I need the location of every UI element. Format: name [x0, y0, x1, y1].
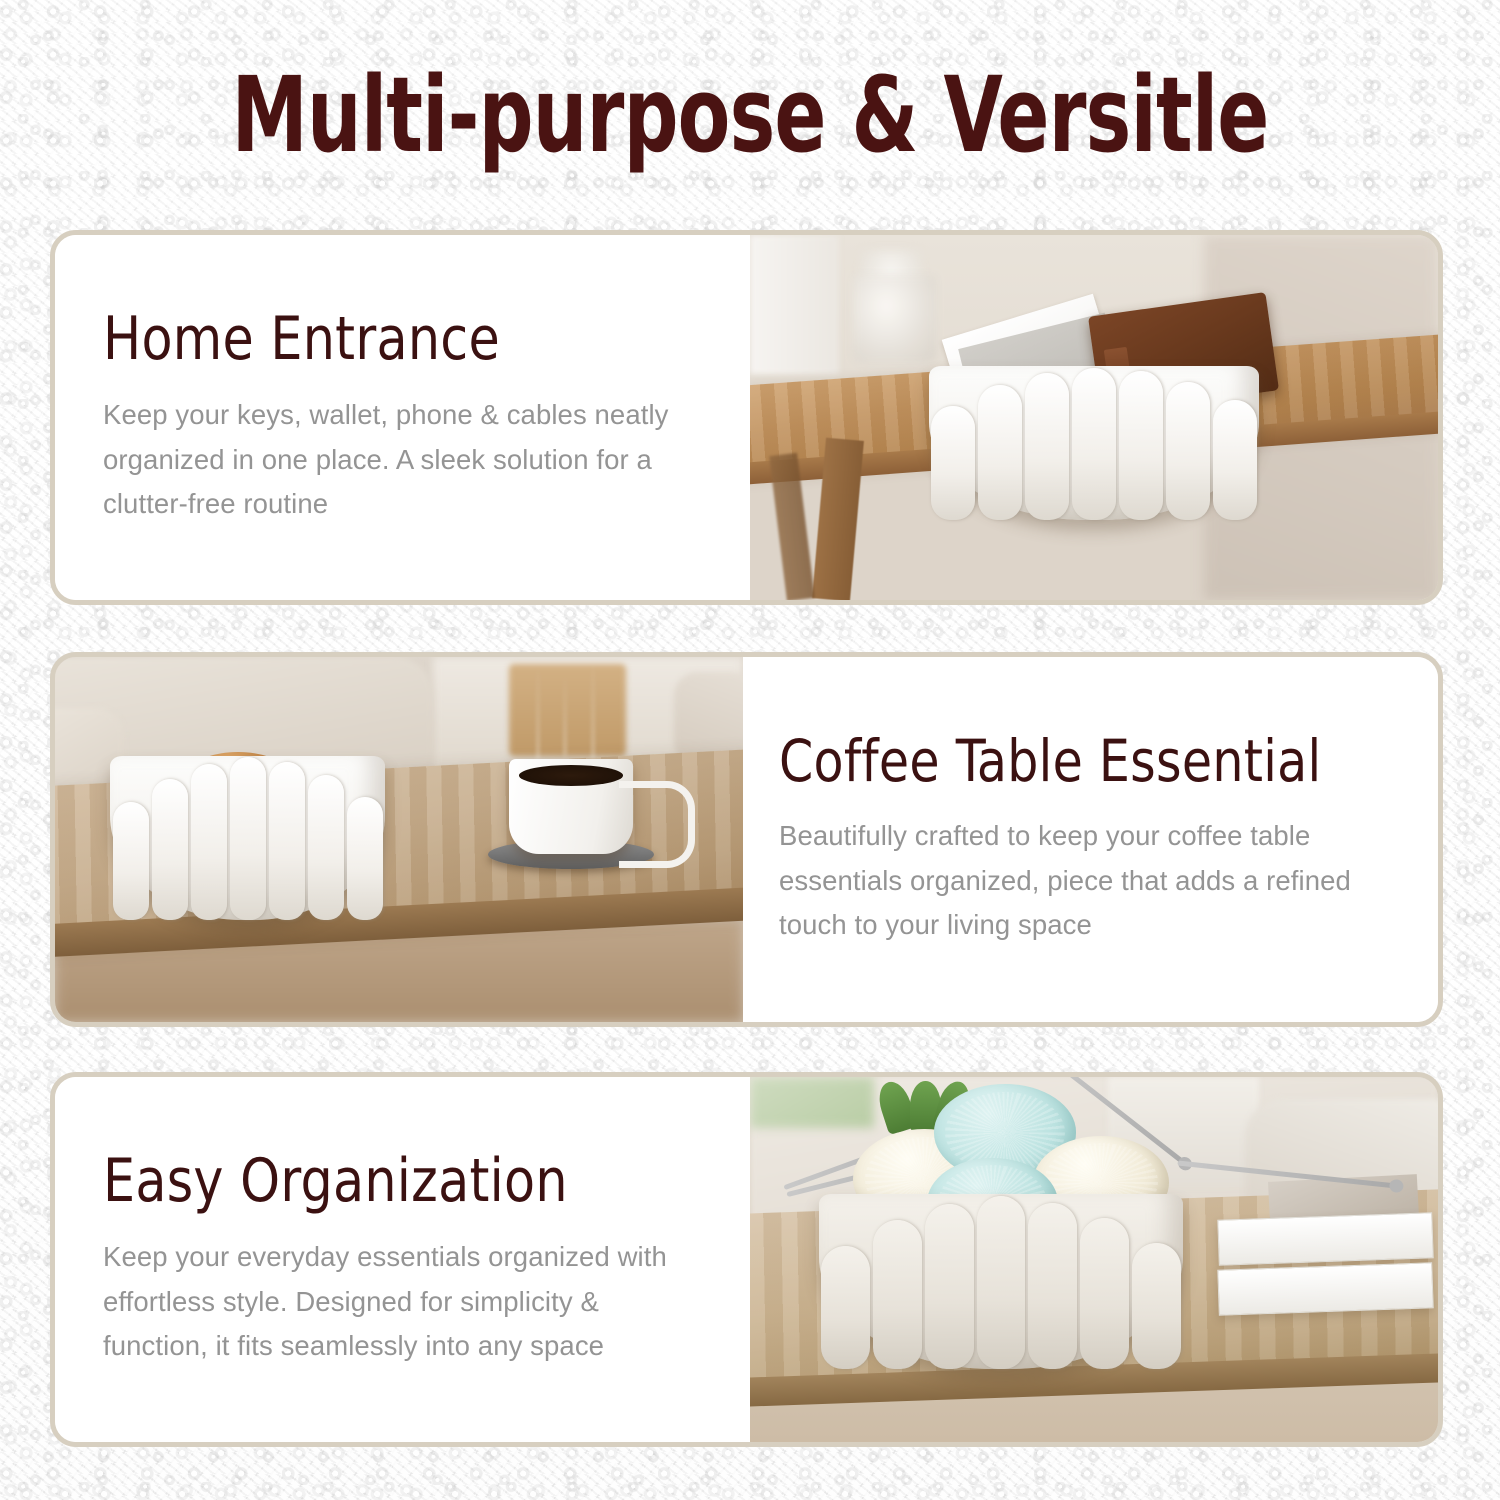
bowl-petals: [929, 366, 1259, 519]
photo-scene-entrance: [750, 235, 1438, 600]
photo-scene-coffee-table: [55, 657, 743, 1022]
petal-bowl: [110, 756, 385, 920]
steam-wisp: [537, 664, 539, 759]
book-top: [1217, 1212, 1434, 1265]
card-heading: Easy Organization: [103, 1150, 711, 1213]
petal-bowl: [819, 1194, 1184, 1369]
photo-scene-yarn: [750, 1077, 1438, 1442]
card-photo-coffee-table: [55, 657, 743, 1022]
window-light: [750, 235, 839, 374]
infographic-page: Multi-purpose & Versitle Home Entrance K…: [0, 0, 1500, 1500]
card-body-text: Beautifully crafted to keep your coffee …: [779, 814, 1399, 948]
petal-bowl: [929, 366, 1259, 519]
page-title: Multi-purpose & Versitle: [135, 62, 1365, 168]
card-heading: Coffee Table Essential: [779, 731, 1398, 792]
card-text-pane: Home Entrance Keep your keys, wallet, ph…: [55, 235, 750, 600]
feature-card-coffee-table-essential: Coffee Table Essential Beautifully craft…: [50, 652, 1443, 1027]
bowl-petals: [819, 1194, 1184, 1369]
glass-jar: [853, 275, 936, 363]
stacked-books: [1218, 1216, 1431, 1326]
card-text-pane: Easy Organization Keep your everyday ess…: [55, 1077, 750, 1442]
steam-wisp: [564, 675, 566, 755]
mug-handle: [619, 781, 695, 868]
card-photo-home-entrance: [750, 235, 1438, 600]
coffee-mug: [509, 759, 633, 854]
card-heading: Home Entrance: [103, 308, 711, 371]
feature-card-home-entrance: Home Entrance Keep your keys, wallet, ph…: [50, 230, 1443, 605]
card-body-text: Keep your keys, wallet, phone & cables n…: [103, 393, 688, 527]
feature-card-easy-organization: Easy Organization Keep your everyday ess…: [50, 1072, 1443, 1447]
card-photo-easy-organization: [750, 1077, 1438, 1442]
steam-wisp: [592, 657, 594, 759]
woven-basket: [509, 664, 626, 755]
bowl-petals: [110, 756, 385, 920]
card-body-text: Keep your everyday essentials organized …: [103, 1235, 688, 1369]
card-text-pane: Coffee Table Essential Beautifully craft…: [743, 657, 1438, 1022]
book-bottom: [1217, 1262, 1434, 1315]
